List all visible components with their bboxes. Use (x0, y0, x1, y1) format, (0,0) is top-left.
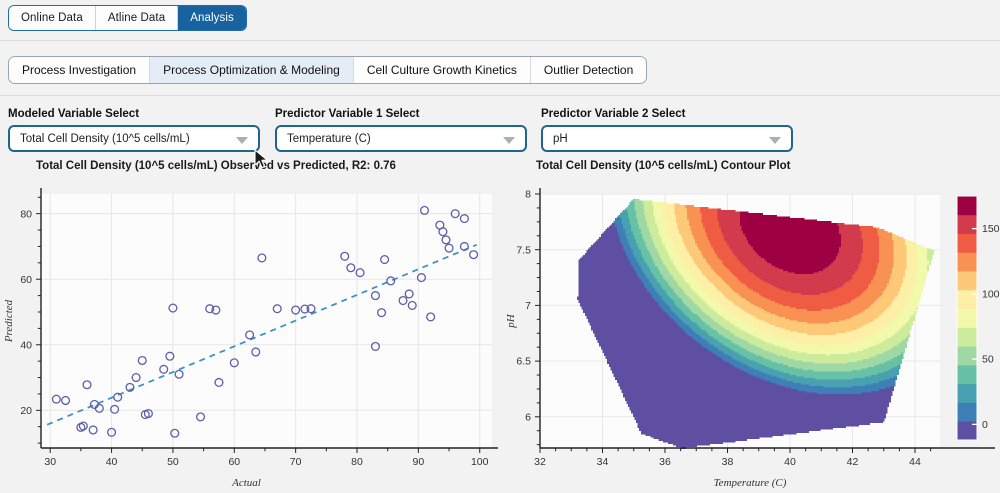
colorbar-tick: 0 (982, 419, 988, 431)
scatter-xlabel: Actual (231, 477, 261, 488)
contour-xtick: 34 (597, 456, 609, 468)
secondary-tabs: Process Investigation Process Optimizati… (8, 56, 647, 84)
subtabs-divider (0, 95, 1000, 96)
app-root: Online Data Atline Data Analysis Process… (0, 0, 1000, 493)
scatter-xtick: 90 (413, 456, 425, 468)
predictor2-value: pH (553, 133, 568, 145)
scatter-xtick: 40 (106, 456, 118, 468)
contour-plot-title: Total Cell Density (10^5 cells/mL) Conto… (536, 160, 1000, 172)
predictor2-select[interactable]: pH (541, 125, 793, 152)
colorbar-tick: 100 (982, 288, 1000, 300)
nav-tab-atline-data[interactable]: Atline Data (96, 6, 178, 30)
scatter-xtick: 50 (167, 456, 179, 468)
scatter-xtick: 100 (471, 456, 489, 468)
contour-ytick: 6 (525, 411, 531, 423)
observed-vs-predicted-panel: Total Cell Density (10^5 cells/mL) Obser… (0, 160, 500, 493)
modeled-variable-value: Total Cell Density (10^5 cells/mL) (20, 133, 190, 145)
nav-tab-online-data[interactable]: Online Data (9, 6, 96, 30)
tab-outlier-detection[interactable]: Outlier Detection (531, 57, 646, 83)
scatter-ytick: 80 (20, 208, 32, 220)
contour-panel: Total Cell Density (10^5 cells/mL) Conto… (500, 160, 1000, 493)
scatter-plot[interactable]: 3040506070809010020406080ActualPredicted (0, 172, 500, 488)
contour-xlabel: Temperature (C) (714, 477, 787, 488)
predictor1-value: Temperature (C) (287, 133, 371, 145)
contour-plot[interactable]: 3234363840424466.577.58Temperature (C)pH… (500, 172, 1000, 488)
tab-process-investigation[interactable]: Process Investigation (9, 57, 150, 83)
contour-xtick: 32 (534, 456, 546, 468)
contour-ytick: 8 (525, 189, 531, 201)
scatter-xtick: 30 (44, 456, 56, 468)
scatter-xtick: 70 (290, 456, 302, 468)
scatter-xtick: 80 (351, 456, 363, 468)
contour-xtick: 42 (847, 456, 859, 468)
primary-nav: Online Data Atline Data Analysis (8, 5, 247, 31)
scatter-ytick: 20 (20, 405, 32, 417)
modeled-variable-label: Modeled Variable Select (8, 108, 260, 120)
scatter-ytick: 60 (20, 274, 32, 286)
scatter-ylabel: Predicted (3, 299, 15, 343)
colorbar-tick: 50 (982, 354, 994, 366)
contour-ylabel: pH (505, 313, 517, 329)
scatter-ytick: 40 (20, 339, 32, 351)
predictor1-select[interactable]: Temperature (C) (275, 125, 527, 152)
contour-ytick: 6.5 (516, 356, 531, 368)
tab-process-optimization-modeling[interactable]: Process Optimization & Modeling (150, 57, 354, 83)
scatter-xtick: 60 (228, 456, 240, 468)
modeled-variable-group: Modeled Variable Select Total Cell Densi… (8, 108, 260, 152)
predictor1-label: Predictor Variable 1 Select (275, 108, 527, 120)
contour-ytick: 7 (525, 300, 531, 312)
modeled-variable-select[interactable]: Total Cell Density (10^5 cells/mL) (8, 125, 260, 152)
contour-xtick: 44 (909, 456, 921, 468)
chevron-down-icon[interactable] (769, 137, 781, 144)
predictor2-group: Predictor Variable 2 Select pH (541, 108, 793, 152)
predictor1-group: Predictor Variable 1 Select Temperature … (275, 108, 527, 152)
chevron-down-icon[interactable] (503, 137, 515, 144)
tab-cell-culture-growth-kinetics[interactable]: Cell Culture Growth Kinetics (354, 57, 531, 83)
colorbar-tick: 150 (982, 223, 1000, 235)
nav-divider (0, 40, 1000, 41)
chevron-down-icon[interactable] (236, 137, 248, 144)
contour-xtick: 36 (659, 456, 671, 468)
nav-tab-analysis[interactable]: Analysis (178, 6, 246, 30)
contour-xtick: 40 (784, 456, 796, 468)
scatter-plot-title: Total Cell Density (10^5 cells/mL) Obser… (36, 160, 500, 172)
contour-ytick: 7.5 (516, 244, 531, 256)
contour-colorbar: 050100150 (957, 196, 1000, 440)
contour-xtick: 38 (722, 456, 734, 468)
predictor2-label: Predictor Variable 2 Select (541, 108, 793, 120)
